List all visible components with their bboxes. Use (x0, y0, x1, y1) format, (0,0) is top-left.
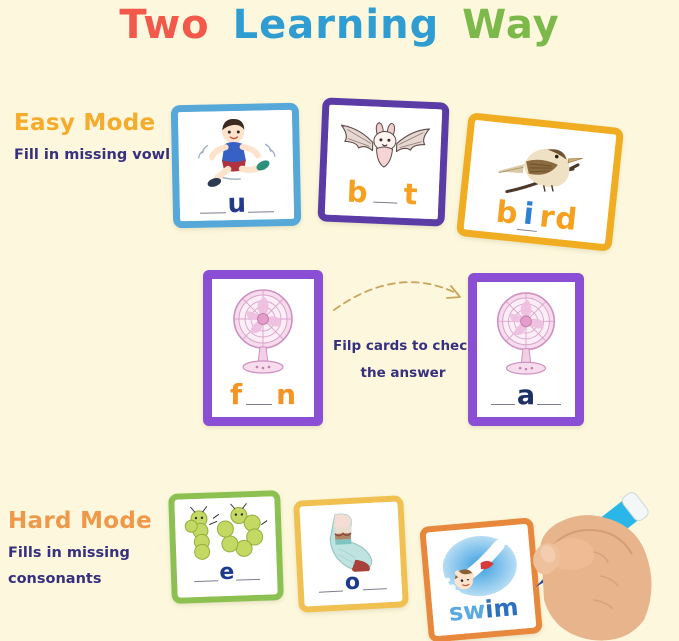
fan-icon (212, 279, 314, 381)
card-inner: b t (325, 105, 443, 220)
fan-icon (477, 282, 575, 382)
card-inner: u (178, 110, 294, 221)
flip-instruction-line2: the answer (333, 360, 473, 387)
card-word-sock: o (303, 569, 403, 609)
sock-icon (299, 502, 400, 575)
card-inner: f n (212, 279, 314, 417)
card-inner: e (174, 496, 277, 597)
blank-letter-slot[interactable] (237, 579, 261, 581)
flashcard-bat[interactable]: b t (317, 97, 449, 226)
title-word-way: Way (458, 2, 564, 48)
card-word-fan: f n (212, 381, 314, 423)
caterpillar-ten-icon (174, 496, 276, 563)
page-title: Two Learning Way (0, 2, 679, 48)
blank-letter-slot[interactable] (200, 212, 226, 214)
letter-b: b (494, 198, 519, 230)
card-word-ten: e (177, 560, 278, 597)
card-word-bat: b t (325, 177, 440, 223)
blank-letter-slot[interactable] (319, 590, 343, 592)
card-word-run: u (180, 190, 295, 229)
hard-mode-block: Hard Mode Fills in missing consonants (8, 508, 152, 591)
running-boy-icon (178, 110, 294, 192)
blank-letter-slot[interactable] (362, 588, 386, 590)
bat-illustration (333, 111, 436, 181)
blank-letter-slot[interactable] (248, 211, 274, 213)
card-inner: o (299, 502, 402, 607)
answer-letter-u: u (227, 191, 246, 217)
flashcard-run-u[interactable]: u (171, 103, 302, 229)
bat-icon (326, 105, 442, 182)
card-inner: a (477, 282, 575, 417)
flashcard-bird[interactable]: b i r d (456, 112, 624, 252)
blank-letter-slot[interactable] (194, 580, 218, 582)
flashcard-sock-o[interactable]: o (293, 495, 409, 613)
hard-mode-heading: Hard Mode (8, 508, 152, 534)
blank-letter-slot[interactable] (491, 404, 515, 405)
card-inner: b i r d (464, 120, 617, 244)
answer-letter-a: a (517, 382, 535, 409)
easy-mode-block: Easy Mode Fill in missing vowl (14, 110, 170, 166)
letter-b: b (346, 178, 368, 208)
poster-canvas: Two Learning Way Easy Mode Fill in missi… (0, 0, 679, 641)
title-word-two: Two (115, 2, 213, 48)
blank-letter-slot[interactable] (246, 404, 272, 405)
flip-arrow-icon (330, 268, 470, 318)
hand-with-marker (494, 468, 679, 641)
hard-mode-subtitle-line2: consonants (8, 568, 152, 590)
caterpillar-number-ten-illustration (179, 502, 273, 563)
title-word-learning: Learning (229, 2, 444, 48)
blank-letter-slot[interactable] (537, 404, 561, 405)
easy-mode-subtitle: Fill in missing vowl (14, 144, 170, 166)
blank-letter-slot[interactable] (373, 202, 397, 204)
answer-letter-e: e (219, 562, 235, 585)
answer-letter-o: o (344, 572, 360, 595)
easy-mode-heading: Easy Mode (14, 110, 170, 136)
letter-t: t (403, 180, 418, 210)
hard-mode-subtitle-line1: Fills in missing (8, 542, 152, 564)
knitted-sock-illustration (313, 508, 388, 574)
flip-instruction: Filp cards to check the answer (333, 333, 473, 387)
pink-electric-fan-illustration (487, 288, 565, 382)
flashcard-fan-answer[interactable]: a (468, 273, 584, 426)
letter-w: w (462, 598, 486, 624)
flashcard-ten-e[interactable]: e (168, 490, 284, 604)
card-word-fan-answer: a (477, 382, 575, 423)
letter-d: d (554, 204, 579, 236)
letter-n: n (276, 381, 296, 409)
flashcard-fan-question[interactable]: f n (203, 270, 323, 426)
pink-electric-fan-illustration (223, 285, 303, 381)
flip-instruction-line1: Filp cards to check (333, 333, 473, 360)
letter-f: f (230, 381, 242, 409)
hand-holding-dry-erase-marker-icon (494, 468, 679, 641)
answer-letter-i: i (517, 199, 540, 232)
running-boy-illustration (189, 116, 283, 192)
